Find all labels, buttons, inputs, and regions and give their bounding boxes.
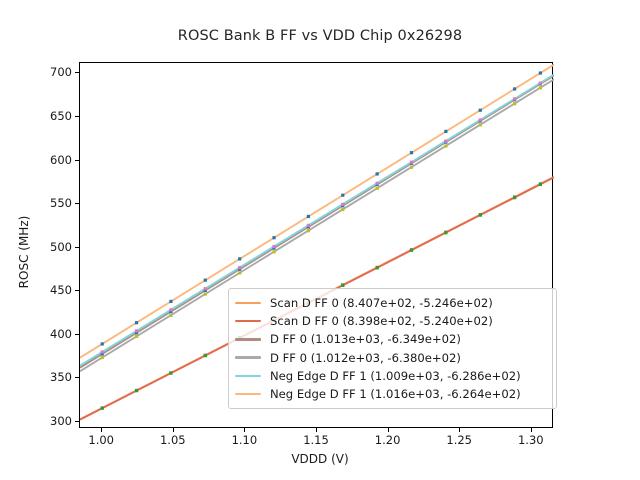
legend-item-label: D FF 0 (1.013e+03, -6.349e+02): [270, 332, 461, 346]
data-point: [238, 271, 241, 274]
legend-item[interactable]: Scan D FF 0 (8.398e+02, -5.240e+02): [235, 312, 549, 330]
data-point: [135, 329, 138, 332]
data-point: [444, 144, 447, 147]
y-tick-label: 700: [0, 65, 72, 79]
x-tick-mark: [388, 428, 389, 432]
data-point: [513, 97, 516, 100]
y-tick-label: 300: [0, 414, 72, 428]
data-point: [238, 257, 241, 260]
data-point: [341, 208, 344, 211]
data-point: [444, 231, 447, 234]
y-tick-label: 500: [0, 240, 72, 254]
legend-item-label: D FF 0 (1.012e+03, -6.380e+02): [270, 351, 461, 365]
legend-color-swatch: [235, 375, 261, 377]
data-point: [513, 196, 516, 199]
y-tick-label: 550: [0, 196, 72, 210]
figure: ROSC Bank B FF vs VDD Chip 0x26298 ROSC …: [0, 0, 640, 480]
data-point: [101, 407, 104, 410]
data-point: [204, 354, 207, 357]
data-point: [272, 236, 275, 239]
y-tick-mark: [75, 160, 79, 161]
legend-color-swatch: [235, 302, 261, 304]
y-tick-mark: [75, 72, 79, 73]
data-point: [169, 314, 172, 317]
data-point: [539, 71, 542, 74]
y-tick-mark: [75, 203, 79, 204]
x-tick-mark: [101, 428, 102, 432]
legend-color-swatch: [235, 356, 261, 358]
data-point: [410, 166, 413, 169]
legend-item[interactable]: Neg Edge D FF 1 (1.009e+03, -6.286e+02): [235, 367, 549, 385]
y-tick-mark: [75, 290, 79, 291]
x-tick-label: 1.20: [348, 433, 428, 447]
data-point: [238, 266, 241, 269]
legend-item-label: Scan D FF 0 (8.398e+02, -5.240e+02): [270, 314, 493, 328]
x-tick-mark: [244, 428, 245, 432]
y-tick-label: 450: [0, 283, 72, 297]
data-point: [410, 151, 413, 154]
data-point: [341, 203, 344, 206]
data-point: [444, 130, 447, 133]
data-point: [135, 335, 138, 338]
x-tick-label: 1.15: [276, 433, 356, 447]
data-point: [479, 118, 482, 121]
data-point: [479, 123, 482, 126]
x-tick-mark: [531, 428, 532, 432]
x-tick-label: 1.25: [419, 433, 499, 447]
data-point: [101, 342, 104, 345]
x-tick-mark: [173, 428, 174, 432]
legend-item[interactable]: Scan D FF 0 (8.407e+02, -5.246e+02): [235, 294, 549, 312]
y-tick-label: 400: [0, 327, 72, 341]
data-point: [272, 250, 275, 253]
x-tick-label: 1.10: [204, 433, 284, 447]
x-tick-mark: [316, 428, 317, 432]
y-tick-label: 350: [0, 370, 72, 384]
x-tick-label: 1.30: [491, 433, 571, 447]
chart-legend: Scan D FF 0 (8.407e+02, -5.246e+02)Scan …: [228, 288, 557, 409]
legend-item[interactable]: D FF 0 (1.013e+03, -6.349e+02): [235, 330, 549, 348]
data-point: [204, 293, 207, 296]
data-point: [307, 215, 310, 218]
data-point: [539, 183, 542, 186]
x-tick-mark: [459, 428, 460, 432]
data-point: [479, 109, 482, 112]
data-point: [101, 356, 104, 359]
y-tick-mark: [75, 116, 79, 117]
legend-color-swatch: [235, 338, 261, 340]
data-point: [204, 279, 207, 282]
data-point: [101, 350, 104, 353]
data-point: [539, 86, 542, 89]
data-point: [341, 284, 344, 287]
data-point: [513, 102, 516, 105]
data-point: [204, 287, 207, 290]
y-tick-mark: [75, 334, 79, 335]
x-tick-label: 1.05: [133, 433, 213, 447]
legend-color-swatch: [235, 320, 261, 322]
data-point: [307, 229, 310, 232]
y-tick-label: 650: [0, 109, 72, 123]
data-point: [376, 187, 379, 190]
x-axis-label: VDDD (V): [0, 452, 640, 466]
legend-item[interactable]: D FF 0 (1.012e+03, -6.380e+02): [235, 349, 549, 367]
chart-title: ROSC Bank B FF vs VDD Chip 0x26298: [0, 28, 640, 44]
data-point: [376, 266, 379, 269]
data-point: [513, 87, 516, 90]
data-point: [307, 224, 310, 227]
data-point: [169, 372, 172, 375]
data-point: [169, 300, 172, 303]
data-point: [376, 182, 379, 185]
y-tick-mark: [75, 421, 79, 422]
data-point: [539, 82, 542, 85]
data-point: [169, 308, 172, 311]
legend-item-label: Neg Edge D FF 1 (1.016e+03, -6.264e+02): [270, 387, 521, 401]
data-point: [341, 194, 344, 197]
data-point: [272, 245, 275, 248]
y-tick-mark: [75, 377, 79, 378]
data-point: [376, 172, 379, 175]
y-tick-mark: [75, 247, 79, 248]
legend-item-label: Scan D FF 0 (8.407e+02, -5.246e+02): [270, 296, 493, 310]
y-tick-label: 600: [0, 153, 72, 167]
data-point: [444, 139, 447, 142]
legend-item[interactable]: Neg Edge D FF 1 (1.016e+03, -6.264e+02): [235, 385, 549, 403]
data-point: [479, 214, 482, 217]
legend-item-label: Neg Edge D FF 1 (1.009e+03, -6.286e+02): [270, 369, 521, 383]
data-point: [410, 161, 413, 164]
data-point: [410, 249, 413, 252]
x-tick-label: 1.00: [61, 433, 141, 447]
data-point: [135, 321, 138, 324]
legend-color-swatch: [235, 393, 261, 395]
data-point: [135, 389, 138, 392]
